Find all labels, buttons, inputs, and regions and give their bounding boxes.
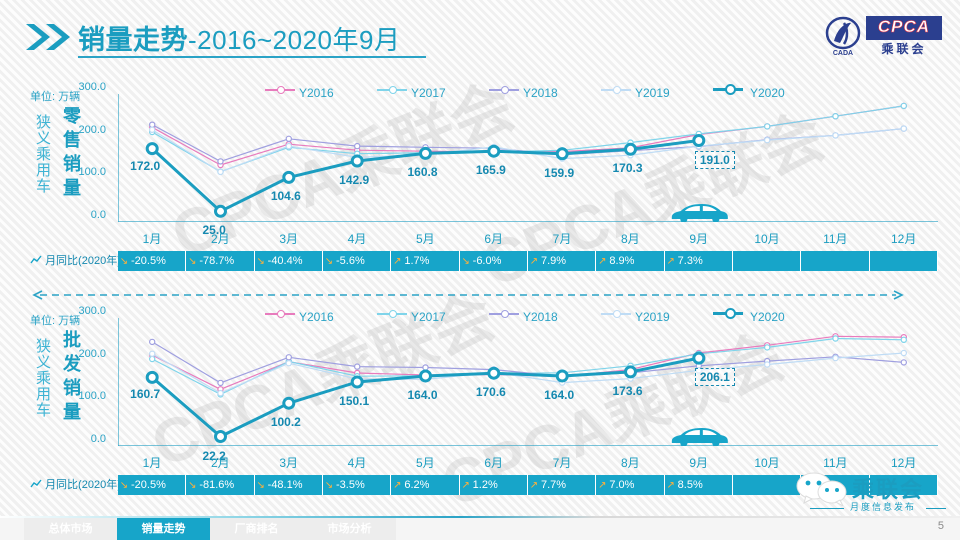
series-point-y2020 <box>147 144 157 154</box>
pct-value: -78.7% <box>199 255 234 267</box>
series-point-y2018 <box>150 339 155 344</box>
series-point-y2019 <box>286 361 291 366</box>
wechat-rule-left <box>810 508 844 509</box>
trend-up-icon: ↗ <box>665 252 677 272</box>
trend-up-icon: ↗ <box>528 252 540 272</box>
slide-header: 销量走势-2016~2020年9月 CADA CPCA 乘联会 <box>0 0 960 70</box>
pct-cell[interactable] <box>870 251 938 271</box>
month-label: 1月 <box>118 230 186 247</box>
page-title-en: -2016~2020年9月 <box>188 25 400 55</box>
month-label: 6月 <box>460 454 528 471</box>
month-label: 3月 <box>255 230 323 247</box>
month-label: 10月 <box>733 454 801 471</box>
y-axis-tick: 100.0 <box>54 390 106 402</box>
series-point-y2019 <box>696 368 701 373</box>
line-chart-plot <box>118 94 938 222</box>
x-axis-months: 1月2月3月4月5月6月7月8月9月10月11月12月 <box>118 230 938 250</box>
month-label: 8月 <box>596 454 664 471</box>
pct-cell[interactable]: ↘-81.6% <box>186 475 254 495</box>
series-point-y2019 <box>833 133 838 138</box>
series-point-y2017 <box>833 114 838 119</box>
series-line-y2019 <box>152 129 904 172</box>
series-point-y2020 <box>147 372 157 382</box>
series-point-y2019 <box>286 144 291 149</box>
trend-down-icon: ↘ <box>255 252 267 272</box>
series-point-y2019 <box>765 362 770 367</box>
month-label: 8月 <box>596 230 664 247</box>
month-label: 4月 <box>323 230 391 247</box>
trend-chart-icon <box>30 479 42 489</box>
series-point-y2019 <box>901 126 906 131</box>
section-divider <box>28 290 908 300</box>
series-point-y2020 <box>694 353 704 363</box>
pct-cell[interactable]: ↗8.9% <box>596 251 664 271</box>
trend-up-icon: ↗ <box>596 476 608 496</box>
series-point-y2017 <box>833 336 838 341</box>
trend-down-icon: ↘ <box>118 252 130 272</box>
double-chevron-right-icon <box>24 22 74 52</box>
series-point-y2017 <box>150 356 155 361</box>
series-point-y2019 <box>150 127 155 132</box>
pct-cell[interactable]: ↗1.2% <box>460 475 528 495</box>
month-label: 4月 <box>323 454 391 471</box>
trend-down-icon: ↘ <box>323 476 335 496</box>
month-label: 10月 <box>733 230 801 247</box>
month-label: 7月 <box>528 454 596 471</box>
series-point-y2020 <box>421 148 431 158</box>
series-point-y2018 <box>355 144 360 149</box>
series-point-y2020 <box>626 144 636 154</box>
month-label: 2月 <box>186 454 254 471</box>
trend-down-icon: ↘ <box>186 476 198 496</box>
pct-row-label: 月同比(2020年) <box>30 251 121 271</box>
pct-cell[interactable]: ↘-6.0% <box>460 251 528 271</box>
pct-cell[interactable]: ↗7.3% <box>665 251 733 271</box>
pct-value: 8.9% <box>609 255 634 267</box>
pct-value: 7.9% <box>541 255 566 267</box>
series-point-y2020 <box>489 146 499 156</box>
month-label: 12月 <box>870 454 938 471</box>
trend-down-icon: ↘ <box>323 252 335 272</box>
series-point-y2020 <box>352 156 362 166</box>
y-axis-tick: 0.0 <box>54 433 106 445</box>
title-underline <box>78 56 426 58</box>
series-point-y2017 <box>901 337 906 342</box>
month-label: 2月 <box>186 230 254 247</box>
month-label: 6月 <box>460 230 528 247</box>
series-point-y2017 <box>765 345 770 350</box>
pct-value: 1.2% <box>473 479 498 491</box>
series-point-y2018 <box>355 364 360 369</box>
series-point-y2018 <box>218 380 223 385</box>
legend-marker <box>389 86 397 94</box>
pct-value: -48.1% <box>268 479 303 491</box>
series-point-y2018 <box>286 136 291 141</box>
series-point-y2018 <box>423 365 428 370</box>
pct-row-label-text: 月同比(2020年) <box>45 479 121 491</box>
series-point-y2020 <box>421 371 431 381</box>
series-point-y2020 <box>694 136 704 146</box>
y-axis-tick: 300.0 <box>54 81 106 93</box>
series-point-y2019 <box>833 356 838 361</box>
pct-value: -20.5% <box>131 255 166 267</box>
tab-2[interactable]: 厂商排名 <box>210 518 303 540</box>
cpca-brand-cn: 乘联会 <box>866 41 942 57</box>
page-title: 销量走势-2016~2020年9月 <box>78 18 400 57</box>
pct-value: 8.5% <box>678 479 703 491</box>
month-label: 1月 <box>118 454 186 471</box>
legend-marker <box>277 86 285 94</box>
pct-cell[interactable]: ↗8.5% <box>665 475 733 495</box>
chart-category-label: 狭义乘用车 <box>32 338 52 418</box>
series-point-y2020 <box>489 368 499 378</box>
series-point-y2019 <box>150 351 155 356</box>
month-label: 5月 <box>391 454 459 471</box>
series-point-y2019 <box>901 350 906 355</box>
month-label: 11月 <box>801 230 869 247</box>
legend-marker <box>501 310 509 318</box>
pct-cell[interactable] <box>733 251 801 271</box>
pct-cell[interactable]: ↗7.9% <box>528 251 596 271</box>
month-label: 11月 <box>801 454 869 471</box>
tab-active-1[interactable]: 销量走势 <box>117 518 210 540</box>
series-point-y2020 <box>216 206 226 216</box>
page-title-cn: 销量走势 <box>78 25 188 55</box>
series-point-y2020 <box>557 371 567 381</box>
pct-cell[interactable]: ↗7.0% <box>596 475 664 495</box>
svg-text:CADA: CADA <box>833 50 853 56</box>
legend-marker <box>613 310 621 318</box>
y-axis-tick: 300.0 <box>54 305 106 317</box>
series-point-y2017 <box>901 103 906 108</box>
y-axis-tick: 200.0 <box>54 124 106 136</box>
page-number: 5 <box>938 520 944 532</box>
trend-up-icon: ↗ <box>528 476 540 496</box>
series-point-y2018 <box>150 122 155 127</box>
x-axis-months: 1月2月3月4月5月6月7月8月9月10月11月12月 <box>118 454 938 474</box>
pct-value: 7.3% <box>678 255 703 267</box>
pct-cell[interactable]: ↘-20.5% <box>118 475 186 495</box>
series-point-y2020 <box>557 149 567 159</box>
pct-value: -5.6% <box>336 255 365 267</box>
pct-cell[interactable]: ↘-3.5% <box>323 475 391 495</box>
month-label: 9月 <box>665 454 733 471</box>
pct-value: -3.5% <box>336 479 365 491</box>
y-axis-tick: 100.0 <box>54 166 106 178</box>
wechat-icon <box>794 472 850 506</box>
pct-row: ↘-20.5%↘-78.7%↘-40.4%↘-5.6%↗1.7%↘-6.0%↗7… <box>118 251 938 271</box>
trend-down-icon: ↘ <box>186 252 198 272</box>
series-point-y2018 <box>218 159 223 164</box>
y-axis: 300.0200.0100.00.0 <box>52 88 114 228</box>
pct-row-label: 月同比(2020年) <box>30 475 121 495</box>
series-point-y2020 <box>216 432 226 442</box>
pct-cell[interactable]: ↘-5.6% <box>323 251 391 271</box>
tab-3[interactable]: 市场分析 <box>303 518 396 540</box>
legend-marker <box>277 310 285 318</box>
trend-chart-icon <box>30 255 42 265</box>
pct-value: 7.0% <box>609 479 634 491</box>
month-label: 12月 <box>870 230 938 247</box>
trend-down-icon: ↘ <box>118 476 130 496</box>
trend-down-icon: ↘ <box>460 252 472 272</box>
pct-cell[interactable]: ↗7.7% <box>528 475 596 495</box>
pct-value: 6.2% <box>404 479 429 491</box>
series-point-y2020 <box>284 172 294 182</box>
pct-value: 7.7% <box>541 479 566 491</box>
trend-up-icon: ↗ <box>665 476 677 496</box>
trend-up-icon: ↗ <box>391 252 403 272</box>
line-chart-plot <box>118 318 938 446</box>
trend-up-icon: ↗ <box>391 476 403 496</box>
pct-cell[interactable] <box>801 251 869 271</box>
pct-value: -81.6% <box>199 479 234 491</box>
series-point-y2020 <box>352 377 362 387</box>
legend-marker <box>613 86 621 94</box>
pct-value: -20.5% <box>131 479 166 491</box>
pct-cell[interactable]: ↘-78.7% <box>186 251 254 271</box>
series-point-y2020 <box>284 398 294 408</box>
month-label: 7月 <box>528 230 596 247</box>
pct-value: 1.7% <box>404 255 429 267</box>
trend-up-icon: ↗ <box>596 252 608 272</box>
tab-0[interactable]: 总体市场 <box>24 518 117 540</box>
legend-marker <box>501 86 509 94</box>
series-point-y2020 <box>626 367 636 377</box>
series-point-y2018 <box>286 355 291 360</box>
chart-panel-retail: 单位: 万辆 狭义乘用车 零售销量 Y2016Y2017Y2018Y2019Y2… <box>0 84 960 274</box>
pct-cell[interactable]: ↗1.7% <box>391 251 459 271</box>
pct-cell[interactable]: ↗6.2% <box>391 475 459 495</box>
month-label: 9月 <box>665 230 733 247</box>
series-point-y2019 <box>765 138 770 143</box>
pct-cell[interactable]: ↘-20.5% <box>118 251 186 271</box>
cpca-logo: CADA CPCA 乘联会 <box>824 14 942 58</box>
pct-cell[interactable]: ↘-48.1% <box>255 475 323 495</box>
chart-panel-wholesale: 单位: 万辆 狭义乘用车 批发销量 Y2016Y2017Y2018Y2019Y2… <box>0 308 960 498</box>
month-label: 5月 <box>391 230 459 247</box>
pct-row-label-text: 月同比(2020年) <box>45 255 121 267</box>
y-axis-tick: 0.0 <box>54 209 106 221</box>
cpca-brand: CPCA <box>868 15 940 39</box>
series-point-y2018 <box>901 360 906 365</box>
chart-category-label: 狭义乘用车 <box>32 114 52 194</box>
trend-up-icon: ↗ <box>460 476 472 496</box>
bottom-tab-bar: 总体市场销量走势厂商排名市场分析 <box>0 516 960 540</box>
pct-cell[interactable]: ↘-40.4% <box>255 251 323 271</box>
pct-value: -40.4% <box>268 255 303 267</box>
car-side-icon <box>672 428 728 446</box>
y-axis: 300.0200.0100.00.0 <box>52 312 114 452</box>
pct-value: -6.0% <box>473 255 502 267</box>
wechat-tagline: 月度信息发布 <box>850 500 916 513</box>
cada-logo-icon: CADA <box>824 16 862 56</box>
wechat-footer: 乘联会 月度信息发布 <box>790 472 950 518</box>
month-label: 3月 <box>255 454 323 471</box>
y-axis-tick: 200.0 <box>54 348 106 360</box>
trend-down-icon: ↘ <box>255 476 267 496</box>
series-point-y2019 <box>218 169 223 174</box>
legend-marker <box>389 310 397 318</box>
series-point-y2019 <box>218 391 223 396</box>
series-point-y2017 <box>765 124 770 129</box>
car-side-icon <box>672 204 728 222</box>
wechat-rule-right <box>926 508 946 509</box>
